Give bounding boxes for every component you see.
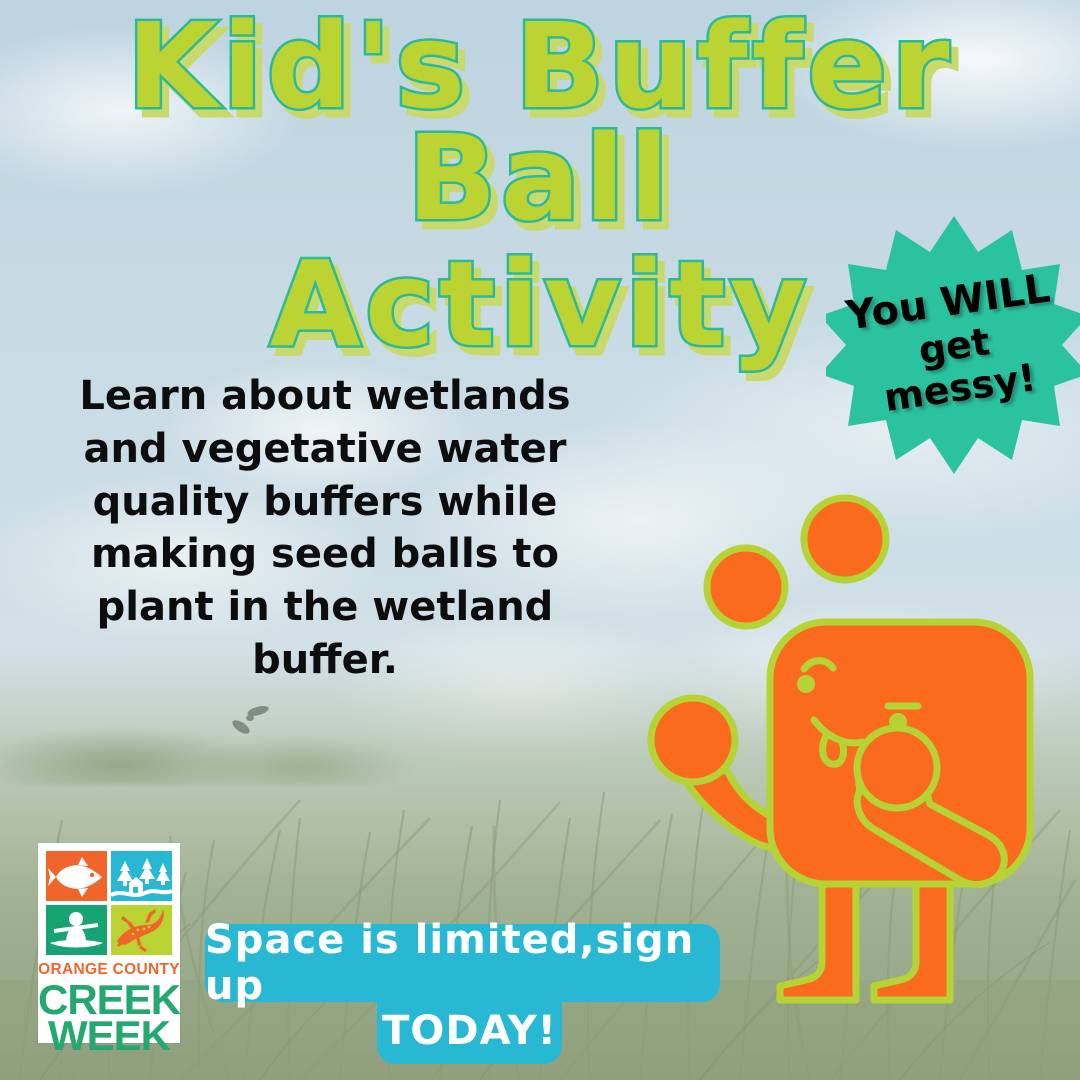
fish-icon	[46, 851, 107, 901]
trees-house-stream-icon	[111, 851, 172, 901]
logo-kayaker-tile	[46, 905, 107, 955]
poster-canvas: Kid's Buffer Ball Activity Learn about w…	[0, 0, 1080, 1080]
lizard-icon	[111, 905, 172, 955]
title-line-1: Kid's Buffer Ball	[0, 10, 1080, 234]
logo-forest-stream-tile	[111, 851, 172, 901]
description-text: Learn about wetlands and vegetative wate…	[70, 370, 580, 687]
dragonfly-icon	[228, 702, 274, 740]
badge-text-group: You WILL get messy!	[809, 195, 1080, 494]
banner-row-2: TODAY!	[377, 986, 562, 1064]
creek-week-logo: ORANGE COUNTY CREEK WEEK	[38, 843, 180, 1043]
kayaker-icon	[46, 905, 107, 955]
logo-fish-tile	[46, 851, 107, 901]
signup-banner[interactable]: Space is limited,sign up TODAY!	[205, 924, 730, 1064]
messy-warning-badge: You WILL get messy!	[826, 212, 1080, 478]
logo-name-line-2: WEEK	[38, 1015, 180, 1057]
banner-line-2: TODAY!	[382, 1008, 557, 1054]
logo-lizard-tile	[111, 905, 172, 955]
logo-icon-grid	[46, 851, 172, 955]
badge-line-3: messy!	[881, 357, 1038, 420]
